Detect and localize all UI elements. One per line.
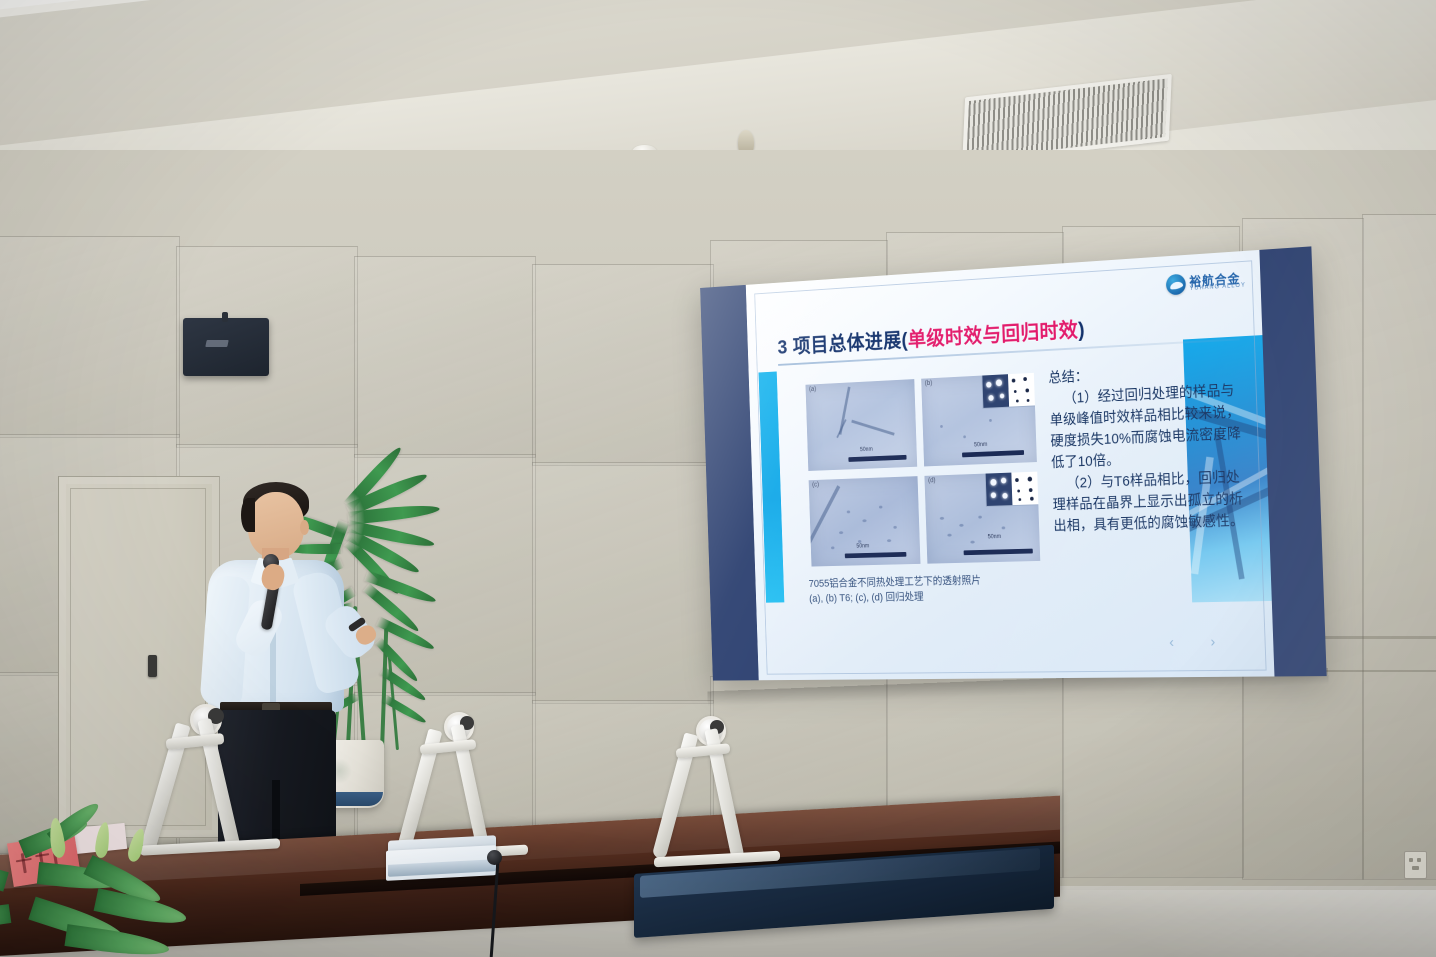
wall-panel — [532, 462, 714, 704]
speaker-bracket — [222, 312, 228, 322]
wall-speaker-icon — [183, 318, 269, 376]
presenter-ear — [300, 520, 309, 535]
tem-scale-label: 50nm — [856, 544, 869, 550]
lily-bud — [126, 827, 147, 863]
lily-leaf — [0, 854, 9, 891]
tem-diffraction-inset — [981, 373, 1035, 409]
summary-text-block: 总结： （1）经过回归处理的样品与单级峰值时效样品相比较来说，硬度损失10%而腐… — [1048, 358, 1246, 538]
tem-scale-label: 50nm — [988, 534, 1001, 540]
lily-plant — [0, 800, 222, 957]
tem-scale-bar — [964, 549, 1033, 556]
tem-panel-label: (c) — [812, 482, 819, 489]
wall-panel — [0, 236, 180, 438]
wall-panel — [532, 264, 714, 466]
outlet-slot — [1417, 858, 1421, 862]
prev-slide-icon[interactable]: ‹ — [1169, 634, 1174, 651]
wall-panel — [354, 256, 536, 458]
tem-scale-label: 50nm — [860, 447, 873, 453]
outlet-slot — [1409, 858, 1413, 862]
microphone-stem — [490, 862, 500, 957]
tem-panel: (d) — [924, 472, 1040, 564]
tem-panel-label: (b) — [925, 380, 933, 387]
tem-figure-grid: (a) 50nm (b) — [805, 373, 1040, 567]
wall-panel — [1362, 214, 1436, 880]
power-outlet-icon[interactable] — [1404, 851, 1427, 879]
door-handle-icon[interactable] — [148, 655, 157, 677]
title-suffix: ) — [1078, 319, 1085, 342]
presenter-hair-side — [241, 498, 255, 532]
tem-scale-label: 50nm — [974, 442, 987, 448]
screenshot-root: 裕航合金 YUHANG ALLOY 3 项目总体进展(单级时效与回归时效) (a… — [0, 0, 1436, 957]
speaker-brand-mark — [205, 340, 228, 347]
tem-scale-bar — [962, 450, 1024, 457]
outlet-slot — [1412, 866, 1419, 870]
tem-scale-bar — [845, 552, 907, 558]
wall-panel — [1062, 664, 1244, 878]
tem-scale-bar — [848, 455, 906, 462]
tem-panel-label: (a) — [809, 386, 816, 393]
tem-panel: (b) — [921, 373, 1037, 467]
next-slide-icon[interactable]: › — [1210, 634, 1215, 651]
tem-panel-label: (d) — [928, 477, 936, 484]
presentation-slide: 裕航合金 YUHANG ALLOY 3 项目总体进展(单级时效与回归时效) (a… — [746, 250, 1275, 680]
monitor-lift-arm[interactable] — [640, 716, 820, 866]
summary-item-2: （2）与T6样品相比，回归处理样品在晶界上显示出孤立的析出相，具有更低的腐蚀敏感… — [1052, 467, 1247, 538]
tem-panel: (a) 50nm — [805, 379, 917, 471]
summary-item-1: （1）经过回归处理的样品与单级峰值时效样品相比较来说，硬度损失10%而腐蚀电流密… — [1049, 380, 1244, 474]
projection-screen[interactable]: 裕航合金 YUHANG ALLOY 3 项目总体进展(单级时效与回归时效) (a… — [700, 246, 1327, 680]
microphone-icon — [487, 850, 502, 865]
slide-navigation[interactable]: ‹ › — [1169, 633, 1245, 652]
tem-panel: (c) 50nm — [809, 476, 921, 566]
gooseneck-microphone[interactable] — [487, 846, 501, 956]
figure-caption: 7055铝合金不同热处理工艺下的透射照片 (a), (b) T6; (c), (… — [809, 572, 1071, 608]
lily-leaf — [0, 904, 11, 931]
tem-diffraction-inset — [985, 472, 1039, 507]
lily-bud — [94, 821, 111, 858]
